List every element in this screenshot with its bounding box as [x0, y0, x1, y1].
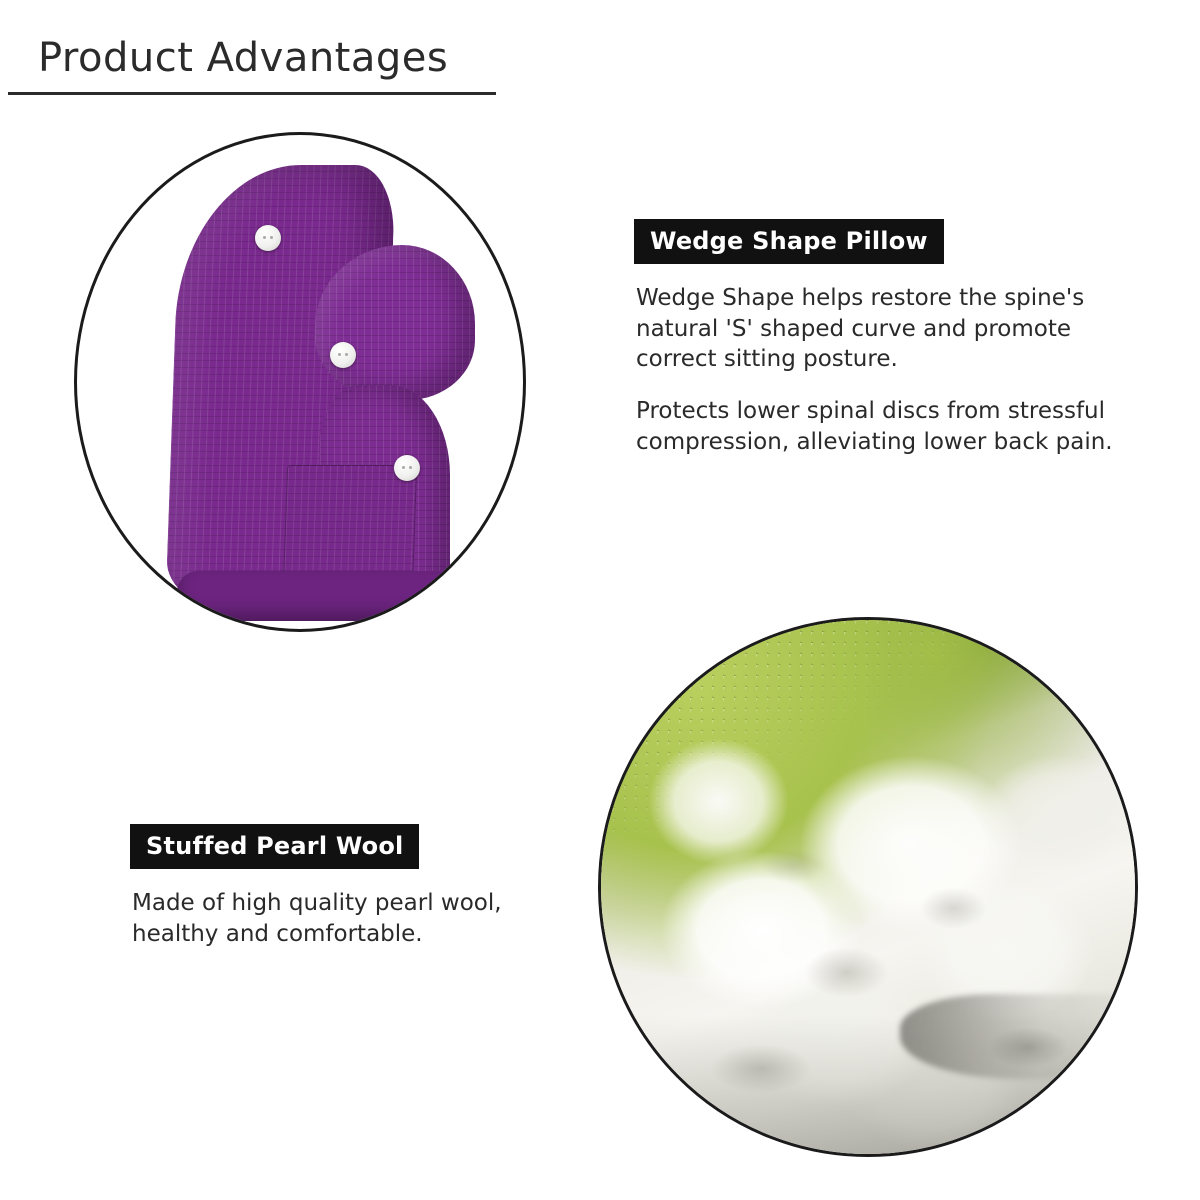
wool-paragraph-1: Made of high quality pearl wool, healthy… — [132, 888, 562, 949]
wedge-pillow-illustration — [77, 135, 523, 629]
page-title: Product Advantages — [38, 38, 448, 78]
wool-bottom-vignette — [601, 1015, 1135, 1154]
button-icon — [394, 455, 420, 481]
section-tag-wedge-shape-pillow: Wedge Shape Pillow — [634, 219, 944, 264]
wedge-pillow-photo — [74, 132, 526, 632]
section-tag-stuffed-pearl-wool: Stuffed Pearl Wool — [130, 824, 419, 869]
button-icon — [255, 225, 281, 251]
pearl-wool-photo — [598, 617, 1138, 1157]
wedge-paragraph-2: Protects lower spinal discs from stressf… — [636, 396, 1146, 457]
title-underline-rule — [8, 92, 496, 95]
pillow-base — [177, 571, 469, 621]
wedge-paragraph-1: Wedge Shape helps restore the spine's na… — [636, 283, 1136, 375]
button-icon — [330, 342, 356, 368]
